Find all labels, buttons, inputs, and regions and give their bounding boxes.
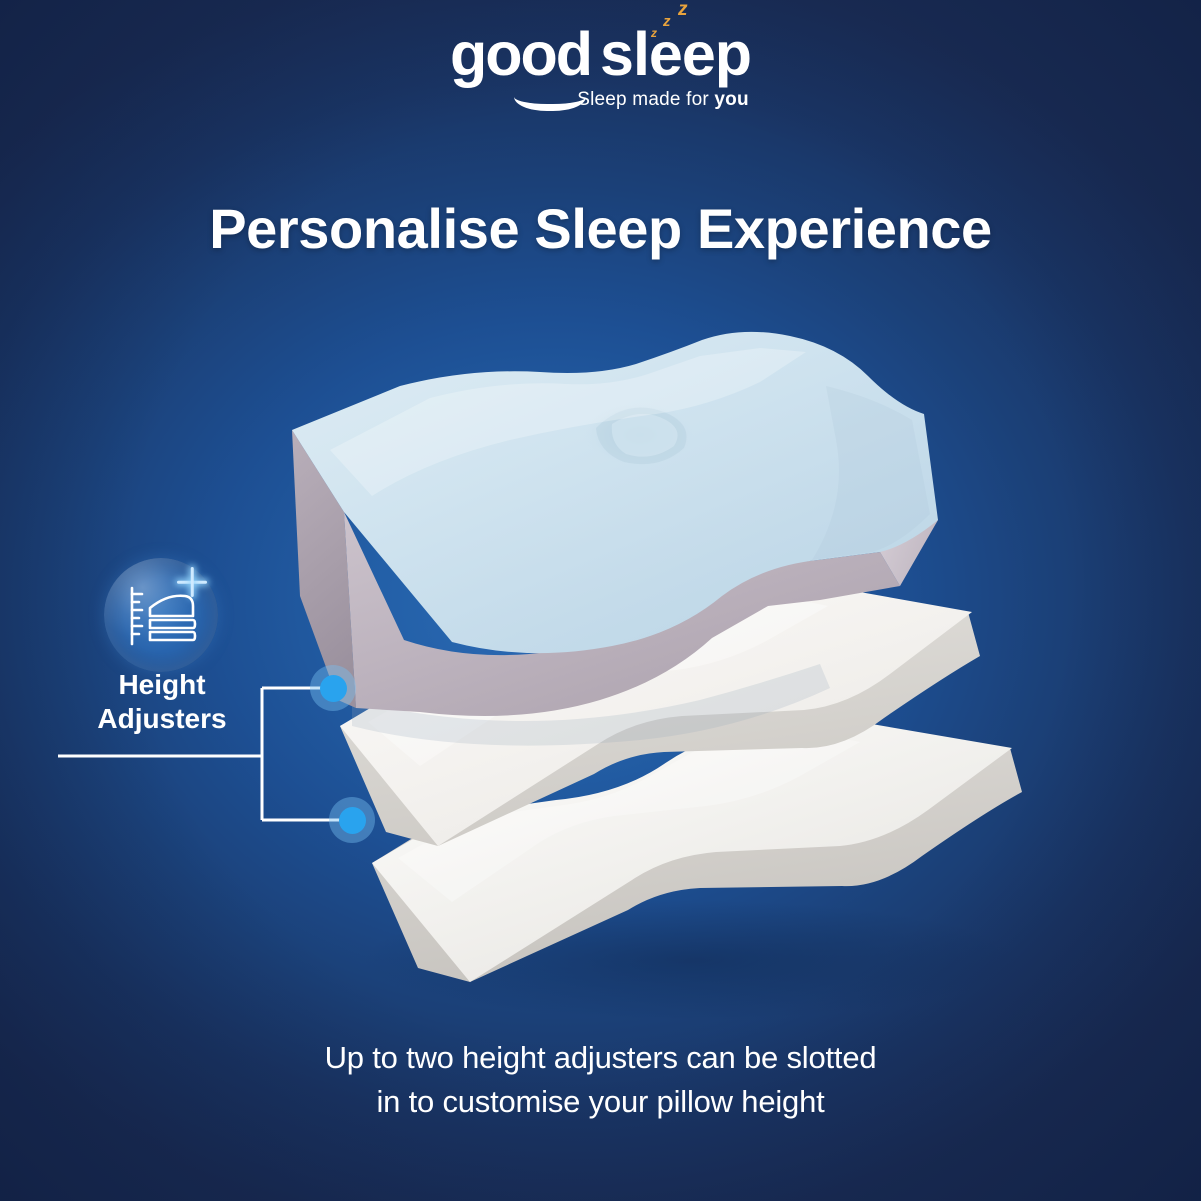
poster-canvas: goodsleep z z z Sleep made for you Perso… (0, 0, 1201, 1201)
height-adjuster-marker-1[interactable] (310, 665, 356, 711)
height-adjuster-marker-2[interactable] (329, 797, 375, 843)
tagline-emphasis: you (714, 89, 748, 110)
tagline-prefix: Sleep made for (577, 89, 714, 110)
caption-line-2: in to customise your pillow height (0, 1080, 1201, 1124)
height-adjuster-icon-badge[interactable] (104, 558, 218, 672)
page-title: Personalise Sleep Experience (0, 196, 1201, 261)
callout-label-line-1: Height (52, 668, 272, 702)
zzz-glyph-2: z (663, 14, 669, 29)
sleep-zzz-icon: z z z (648, 0, 710, 40)
logo-word-good: good (450, 20, 591, 88)
caption-line-1: Up to two height adjusters can be slotte… (0, 1036, 1201, 1080)
callout-label: Height Adjusters (52, 668, 272, 736)
smile-icon (514, 80, 586, 111)
brand-tagline: Sleep made for you (0, 89, 1201, 111)
callout-label-line-2: Adjusters (52, 702, 272, 736)
zzz-glyph-3: z (651, 27, 656, 39)
logo-wordmark: goodsleep z z z (450, 24, 751, 85)
brand-logo[interactable]: goodsleep z z z Sleep made for you (0, 24, 1201, 111)
caption-text: Up to two height adjusters can be slotte… (0, 1036, 1201, 1124)
zzz-glyph-1: z (678, 0, 686, 19)
height-ruler-layers-icon (123, 582, 199, 648)
